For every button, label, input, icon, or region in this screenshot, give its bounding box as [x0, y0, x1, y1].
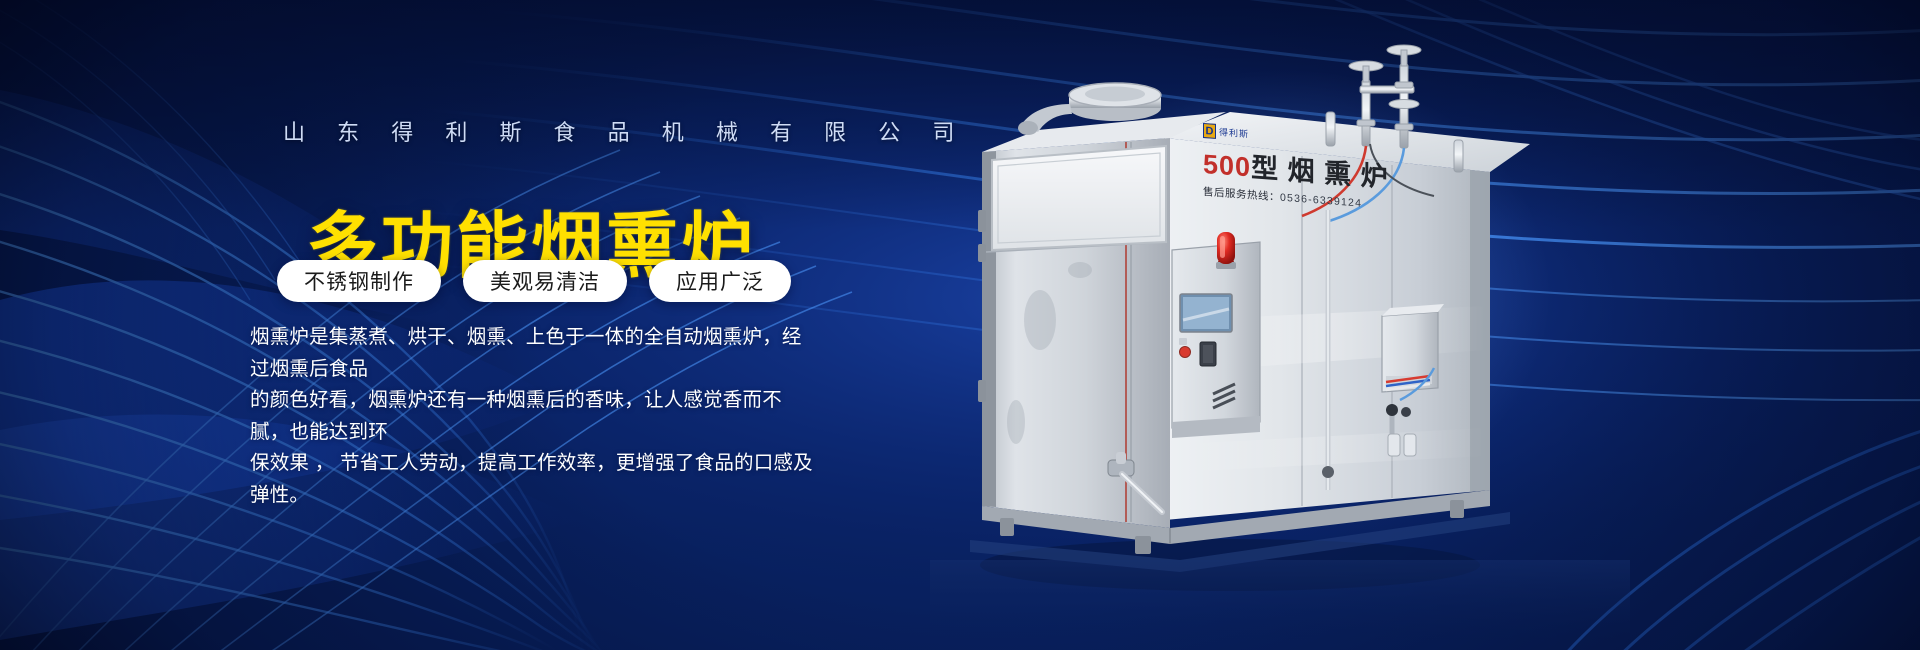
description-line-1: 烟熏炉是集蒸煮、烘干、烟熏、上色于一体的全自动烟熏炉，经过烟熏后食品 — [250, 322, 820, 385]
banner-content: 山 东 得 利 斯 食 品 机 械 有 限 公 司 多功能烟熏炉 不锈钢制作 美… — [0, 0, 1000, 650]
feature-pill-easy-clean[interactable]: 美观易清洁 — [463, 260, 627, 302]
company-name: 山 东 得 利 斯 食 品 机 械 有 限 公 司 — [283, 115, 967, 147]
description-line-2: 的颜色好看，烟熏炉还有一种烟熏后的香味，让人感觉香而不腻，也能达到环 — [250, 385, 820, 448]
description-line-3: 保效果 ， 节省工人劳动，提高工作效率，更增强了食品的口感及弹性。 — [250, 448, 820, 511]
feature-pill-stainless[interactable]: 不锈钢制作 — [277, 260, 441, 302]
product-description: 烟熏炉是集蒸煮、烘干、烟熏、上色于一体的全自动烟熏炉，经过烟熏后食品 的颜色好看… — [250, 322, 820, 511]
feature-pill-list: 不锈钢制作 美观易清洁 应用广泛 — [277, 260, 791, 302]
product-photo-smoke-oven — [930, 20, 1630, 640]
promo-banner: D 得利斯 500型 烟 熏 炉 售后服务热线：0536-6339124 山 东… — [0, 0, 1920, 650]
feature-pill-wide-use[interactable]: 应用广泛 — [649, 260, 791, 302]
